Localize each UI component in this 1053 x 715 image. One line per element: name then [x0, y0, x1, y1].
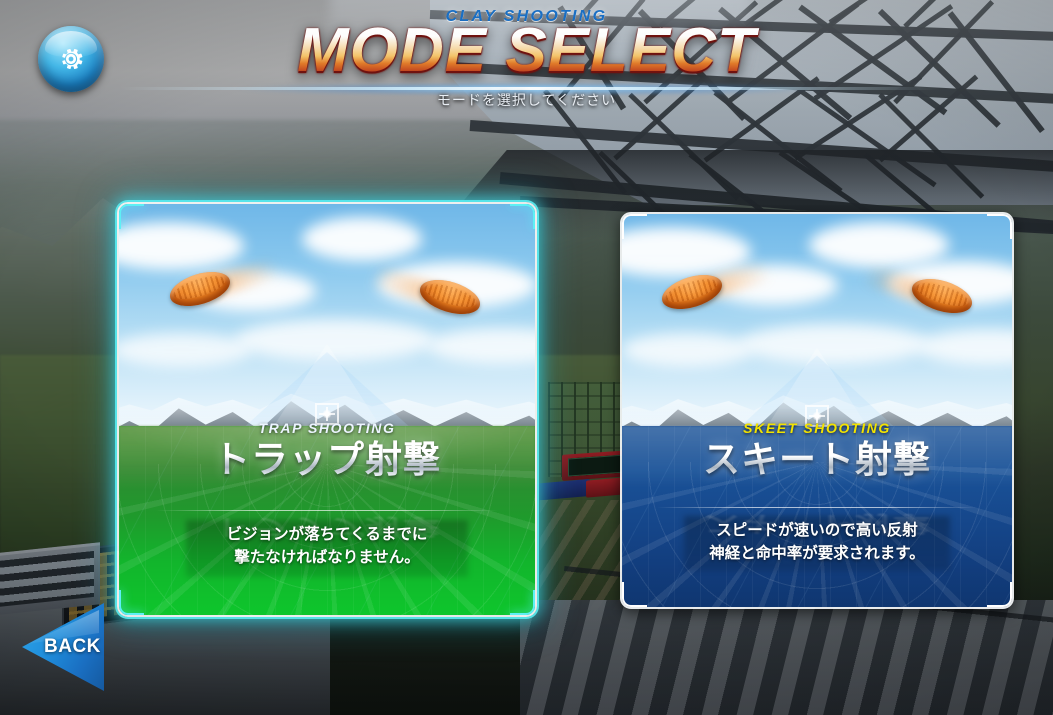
mode-description: スピードが速いので高い反射 神経と命中率が要求されます。	[622, 519, 1012, 566]
header: CLAY SHOOTING MODE SELECT MODE SELECT モー…	[0, 0, 1053, 118]
page-title-text: MODE SELECT	[0, 20, 1053, 82]
settings-button[interactable]	[38, 26, 104, 92]
mode-card-skeet-inner: SKEET SHOOTING スキート射撃 スキート射撃 スピードが速いので高い…	[622, 214, 1012, 607]
cloud	[809, 222, 949, 268]
mode-divider	[156, 510, 497, 511]
mode-description-line1: ビジョンが落ちてくるまでに	[119, 523, 535, 546]
mode-english-label: SKEET SHOOTING	[622, 420, 1012, 436]
mode-divider	[657, 507, 977, 508]
gear-icon	[55, 43, 87, 75]
mode-description: ビジョンが落ちてくるまでに 撃たなければなりません。	[119, 523, 535, 570]
mode-card-skeet[interactable]: SKEET SHOOTING スキート射撃 スキート射撃 スピードが速いので高い…	[620, 212, 1014, 609]
cloud	[235, 319, 435, 361]
cloud	[302, 217, 422, 261]
cloud	[427, 328, 535, 364]
header-subtitle: モードを選択してください	[0, 90, 1053, 110]
back-button-label: BACK	[44, 636, 101, 658]
mode-title: スキート射撃	[622, 440, 1012, 480]
back-button[interactable]: BACK	[22, 603, 104, 691]
cloud	[119, 333, 251, 367]
cloud	[918, 329, 1012, 365]
page-title: MODE SELECT MODE SELECT	[0, 0, 1053, 92]
cloud	[739, 324, 929, 364]
mode-card-trap[interactable]: TRAP SHOOTING トラップ射撃 トラップ射撃 ビジョンが落ちてくるまで…	[117, 202, 537, 617]
mode-description-line2: 神経と命中率が要求されます。	[622, 542, 1012, 565]
mode-description-line2: 撃たなければなりません。	[119, 546, 535, 569]
mode-select-screen: CLAY SHOOTING MODE SELECT MODE SELECT モー…	[0, 0, 1053, 715]
cloud	[119, 222, 244, 270]
mode-title: トラップ射撃	[119, 440, 535, 480]
cloud	[622, 333, 752, 367]
mode-card-trap-inner: TRAP SHOOTING トラップ射撃 トラップ射撃 ビジョンが落ちてくるまで…	[119, 204, 535, 615]
mode-english-label: TRAP SHOOTING	[119, 420, 535, 436]
mode-description-line1: スピードが速いので高い反射	[622, 519, 1012, 542]
